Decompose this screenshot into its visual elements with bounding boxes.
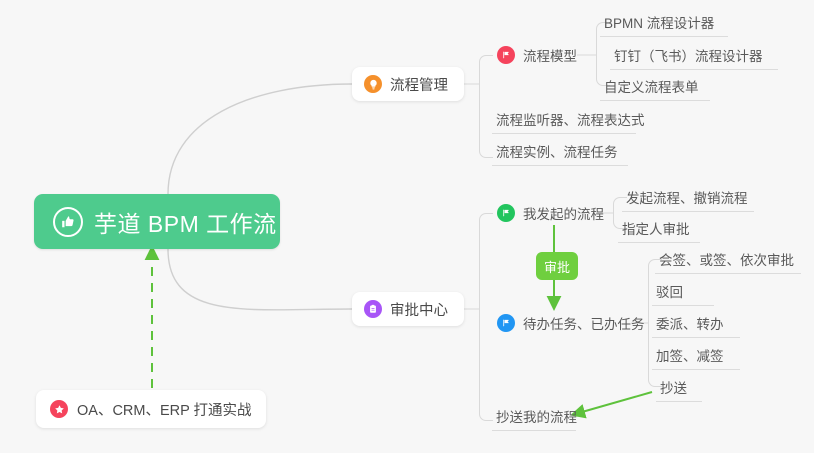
node-my-started-processes[interactable]: 我发起的流程 bbox=[493, 199, 612, 227]
node-cc-to-me[interactable]: 抄送我的流程 bbox=[492, 402, 585, 430]
mindmap-canvas: 芋道 BPM 工作流 流程管理 流程模型 BPMN 流程设计器 钉钉（飞书）流程… bbox=[0, 0, 814, 453]
root-label: 芋道 BPM 工作流 bbox=[94, 205, 277, 239]
root-node[interactable]: 芋道 BPM 工作流 bbox=[34, 194, 280, 249]
label-start-cancel-process: 发起流程、撤销流程 bbox=[626, 187, 748, 207]
underline-cc-to-me bbox=[492, 430, 576, 431]
thumbs-up-icon bbox=[53, 207, 83, 237]
branch-node-approval-center[interactable]: 审批中心 bbox=[352, 292, 464, 326]
node-delegate-transfer[interactable]: 委派、转办 bbox=[652, 309, 732, 337]
note-card-label: OA、CRM、ERP 打通实战 bbox=[77, 399, 252, 420]
label-my-started-processes: 我发起的流程 bbox=[523, 203, 604, 223]
lightbulb-icon bbox=[364, 75, 382, 93]
underline-countersign bbox=[655, 273, 801, 274]
connector-root-to-approval-center bbox=[168, 249, 352, 310]
note-card-integration[interactable]: OA、CRM、ERP 打通实战 bbox=[36, 390, 266, 428]
approval-tag-badge[interactable]: 审批 bbox=[536, 252, 578, 280]
underline-dingtalk-feishu-designer bbox=[610, 69, 778, 70]
node-countersign[interactable]: 会签、或签、依次审批 bbox=[655, 245, 802, 273]
underline-process-listener-expression bbox=[492, 133, 636, 134]
arrow-cc-to-my-cc-processes bbox=[575, 392, 652, 414]
flag-green-icon bbox=[497, 204, 515, 222]
label-add-remove-sign: 加签、减签 bbox=[656, 345, 724, 365]
label-assignee-approval: 指定人审批 bbox=[622, 218, 690, 238]
label-custom-process-form: 自定义流程表单 bbox=[604, 76, 699, 96]
label-dingtalk-feishu-designer: 钉钉（飞书）流程设计器 bbox=[614, 45, 763, 65]
star-icon bbox=[50, 400, 68, 418]
underline-reject bbox=[652, 305, 714, 306]
node-dingtalk-feishu-designer[interactable]: 钉钉（飞书）流程设计器 bbox=[610, 41, 771, 69]
node-cc[interactable]: 抄送 bbox=[656, 373, 695, 401]
label-process-listener-expression: 流程监听器、流程表达式 bbox=[496, 109, 645, 129]
label-delegate-transfer: 委派、转办 bbox=[656, 313, 724, 333]
node-bpmn-designer[interactable]: BPMN 流程设计器 bbox=[600, 8, 722, 36]
underline-cc bbox=[656, 401, 702, 402]
underline-custom-process-form bbox=[600, 100, 710, 101]
underline-process-instance-task bbox=[492, 165, 628, 166]
label-countersign: 会签、或签、依次审批 bbox=[659, 249, 794, 269]
label-process-instance-task: 流程实例、流程任务 bbox=[496, 141, 618, 161]
underline-bpmn-designer bbox=[600, 36, 728, 37]
label-cc: 抄送 bbox=[660, 377, 687, 397]
branch-label-approval-center: 审批中心 bbox=[390, 299, 448, 320]
flag-blue-icon bbox=[497, 314, 515, 332]
node-add-remove-sign[interactable]: 加签、减签 bbox=[652, 341, 732, 369]
node-todo-done-tasks[interactable]: 待办任务、已办任务 bbox=[493, 309, 653, 337]
branch-node-process-management[interactable]: 流程管理 bbox=[352, 67, 464, 101]
label-bpmn-designer: BPMN 流程设计器 bbox=[604, 12, 714, 32]
node-start-cancel-process[interactable]: 发起流程、撤销流程 bbox=[622, 183, 756, 211]
underline-start-cancel-process bbox=[622, 211, 754, 212]
approval-tag-label: 审批 bbox=[544, 257, 570, 276]
node-process-listener-expression[interactable]: 流程监听器、流程表达式 bbox=[492, 105, 653, 133]
underline-add-remove-sign bbox=[652, 369, 740, 370]
node-process-model[interactable]: 流程模型 bbox=[493, 41, 585, 69]
bracket-approval-center-children bbox=[479, 213, 493, 421]
branch-label-process-management: 流程管理 bbox=[390, 74, 448, 95]
label-cc-to-me: 抄送我的流程 bbox=[496, 406, 577, 426]
underline-delegate-transfer bbox=[652, 337, 740, 338]
label-process-model: 流程模型 bbox=[523, 45, 577, 65]
underline-assignee-approval bbox=[618, 242, 700, 243]
label-reject: 驳回 bbox=[656, 281, 683, 301]
node-process-instance-task[interactable]: 流程实例、流程任务 bbox=[492, 137, 626, 165]
connector-root-to-process-management bbox=[168, 84, 352, 194]
label-todo-done-tasks: 待办任务、已办任务 bbox=[523, 313, 645, 333]
flag-red-icon bbox=[497, 46, 515, 64]
node-reject[interactable]: 驳回 bbox=[652, 277, 691, 305]
node-custom-process-form[interactable]: 自定义流程表单 bbox=[600, 72, 707, 100]
clipboard-purple-icon bbox=[364, 300, 382, 318]
bracket-process-management-children bbox=[479, 55, 493, 158]
node-assignee-approval[interactable]: 指定人审批 bbox=[618, 214, 698, 242]
